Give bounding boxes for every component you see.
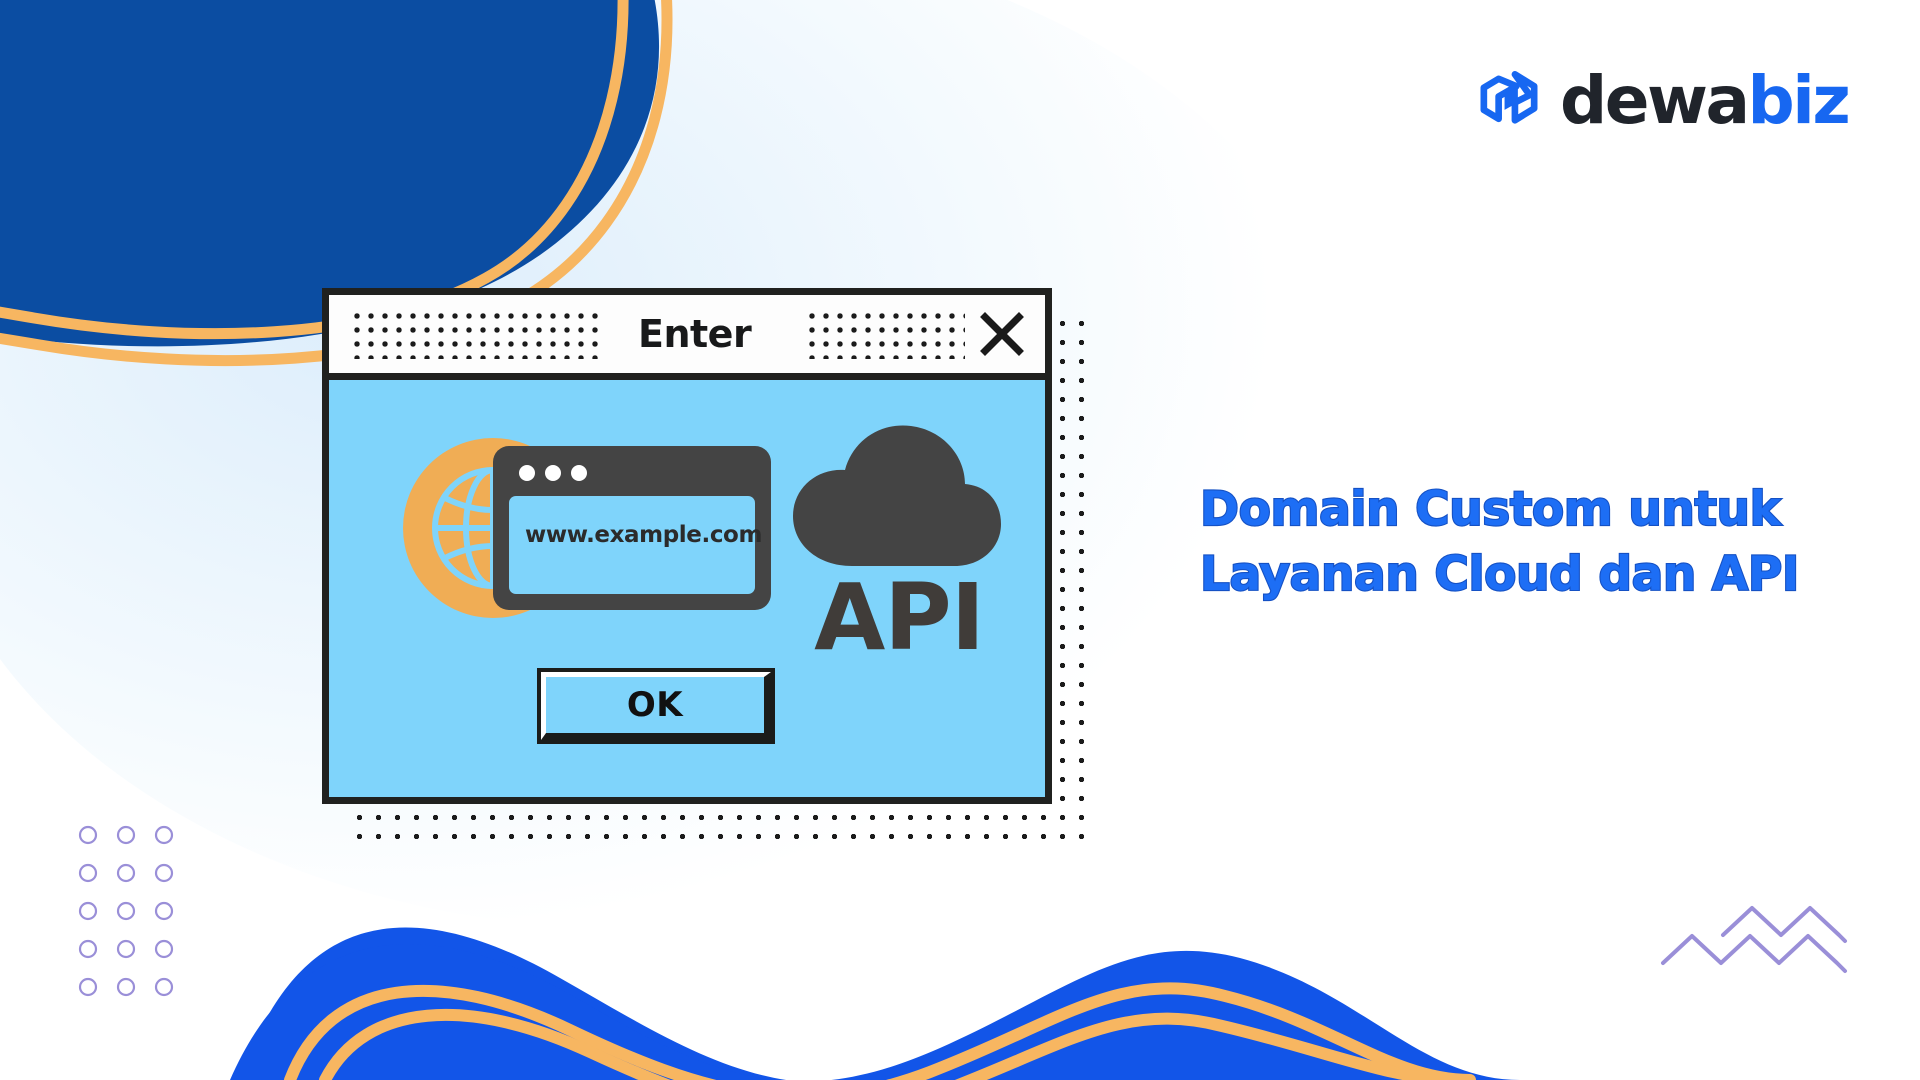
browser-dot-3 <box>571 465 587 481</box>
ok-button-label: OK <box>627 685 683 725</box>
brand-logo[interactable]: dewabiz <box>1472 64 1848 138</box>
poster-canvas: dewabiz Domain Custom untuk Layanan Clou… <box>0 0 1920 1080</box>
dewabiz-hexagon-logo-icon <box>1472 64 1546 138</box>
dialog-title: Enter <box>638 312 751 356</box>
page-title-line-2: Layanan Cloud dan API <box>1200 543 1880 608</box>
browser-dot-1 <box>519 465 535 481</box>
cloud-icon <box>789 416 1004 576</box>
page-title: Domain Custom untuk Layanan Cloud dan AP… <box>1200 478 1880 608</box>
api-label: API <box>799 572 999 664</box>
brand-wordmark: dewabiz <box>1560 68 1848 134</box>
dialog-titlebar: Enter <box>329 295 1045 380</box>
dialog-illustration: Enter <box>322 288 1062 818</box>
titlebar-dot-pattern-left <box>350 309 600 359</box>
browser-dot-2 <box>545 465 561 481</box>
url-text: www.example.com <box>525 522 745 548</box>
dialog-body: www.example.com API OK <box>329 380 1045 796</box>
close-button[interactable] <box>971 310 1033 358</box>
brand-name-primary: dewa <box>1560 62 1748 139</box>
close-x-icon <box>978 310 1026 358</box>
ok-button[interactable]: OK <box>541 672 771 740</box>
enter-dialog-window: Enter <box>322 288 1052 804</box>
brand-name-accent: biz <box>1748 62 1849 139</box>
page-title-line-1: Domain Custom untuk <box>1200 478 1880 543</box>
titlebar-dot-pattern-right <box>805 309 965 359</box>
